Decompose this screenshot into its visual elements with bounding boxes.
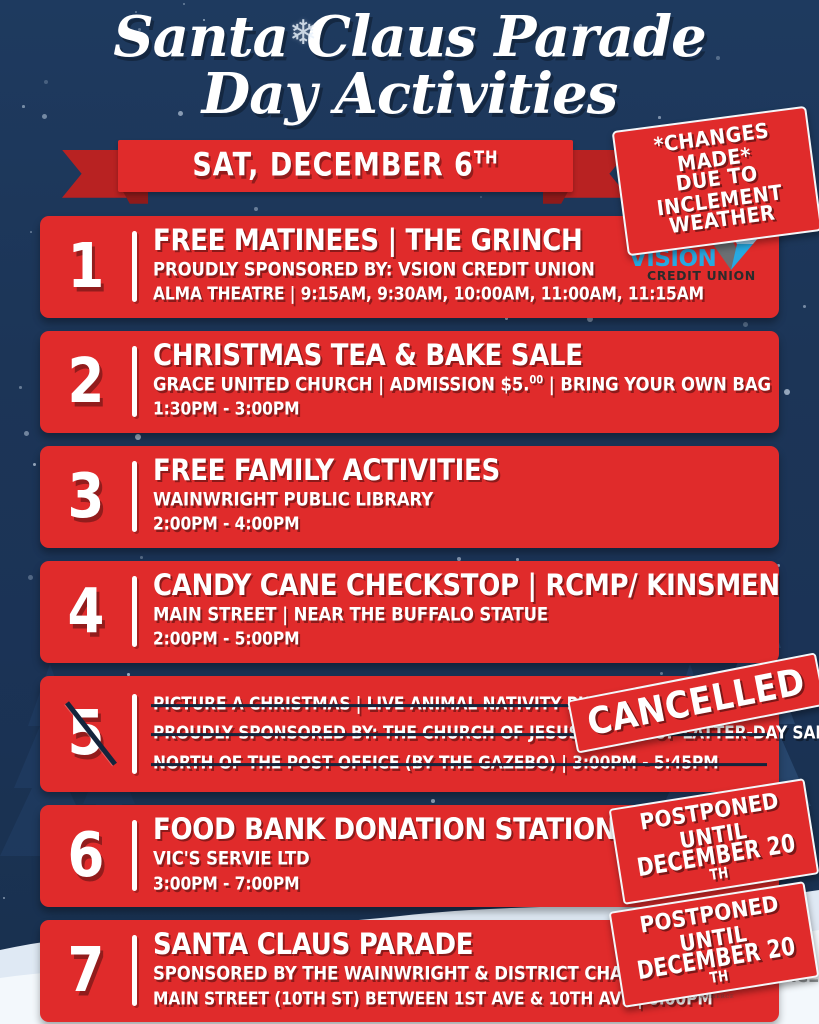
activity-number: 5 [68, 703, 105, 764]
activity-subtitle: GRACE UNITED CHURCH | ADMISSION $5.00 | … [153, 373, 765, 397]
activity-number: 3 [68, 466, 105, 527]
vision-logo-sub: CREDIT UNION [647, 268, 756, 283]
activity-number: 6 [68, 825, 105, 886]
card-divider [132, 935, 137, 1006]
activity-title: CANDY CANE CHECKSTOP | RCMP/ KINSMEN [153, 570, 765, 603]
activity-number-column: 2 [40, 342, 132, 421]
activity-subtitle-a: GRACE UNITED CHURCH | ADMISSION $5. [153, 374, 529, 395]
activity-details: NORTH OF THE POST OFFICE (BY THE GAZEBO)… [153, 747, 765, 780]
ribbon-fold-right [543, 190, 569, 204]
card-divider [132, 461, 137, 532]
card-divider [132, 820, 137, 891]
activity-number-column: 7 [40, 931, 132, 1010]
activity-subtitle: MAIN STREET | NEAR THE BUFFALO STATUE [153, 603, 765, 627]
ribbon-date: SAT, DECEMBER 6 [192, 147, 473, 184]
ribbon-date-suffix: TH [474, 147, 499, 168]
ribbon-body: SAT, DECEMBER 6TH [118, 140, 573, 192]
ribbon-fold-left [122, 190, 148, 204]
page-title: Santa Claus Parade Day Activities [0, 10, 819, 122]
activity-number-column: 6 [40, 816, 132, 895]
poster-header: ❄ Santa Claus Parade Day Activities [0, 0, 819, 122]
activity-details: 2:00PM - 5:00PM [153, 627, 765, 652]
activity-number-column: 1 [40, 227, 132, 306]
activity-number: 1 [68, 236, 105, 297]
activity-details: 2:00PM - 4:00PM [153, 512, 765, 537]
activity-body: CANDY CANE CHECKSTOP | RCMP/ KINSMEN MAI… [153, 572, 765, 651]
activity-body: FREE FAMILY ACTIVITIES WAINWRIGHT PUBLIC… [153, 457, 765, 536]
activity-number-column: 3 [40, 457, 132, 536]
activity-subtitle-b: | BRING YOUR OWN BAG [543, 374, 771, 395]
poster-canvas: ❄ Santa Claus Parade Day Activities SAT,… [0, 0, 819, 1024]
activity-details: 1:30PM - 3:00PM [153, 397, 765, 422]
title-line-2: Day Activities [0, 67, 819, 122]
changes-notice-badge: *CHANGES MADE* DUE TO INCLEMENT WEATHER [612, 106, 819, 256]
activity-subtitle: WAINWRIGHT PUBLIC LIBRARY [153, 488, 765, 512]
activity-card-4[interactable]: 4 CANDY CANE CHECKSTOP | RCMP/ KINSMEN M… [40, 561, 779, 663]
card-divider [132, 576, 137, 647]
activity-number: 4 [68, 581, 105, 642]
activity-number: 7 [68, 940, 105, 1001]
activity-card-2[interactable]: 2 CHRISTMAS TEA & BAKE SALE GRACE UNITED… [40, 331, 779, 433]
activity-number-column: 5 [40, 690, 132, 778]
activity-card-3[interactable]: 3 FREE FAMILY ACTIVITIES WAINWRIGHT PUBL… [40, 446, 779, 548]
activity-body: CHRISTMAS TEA & BAKE SALE GRACE UNITED C… [153, 342, 765, 421]
activity-title: FREE FAMILY ACTIVITIES [153, 455, 765, 488]
card-divider [132, 694, 137, 774]
activity-number: 2 [68, 351, 105, 412]
activity-number-column: 4 [40, 572, 132, 651]
activity-price-cents: 00 [529, 374, 543, 386]
card-divider [132, 346, 137, 417]
title-line-1: Santa Claus Parade [0, 10, 819, 65]
card-divider [132, 231, 137, 302]
ribbon-text: SAT, DECEMBER 6TH [192, 147, 498, 184]
activity-title: CHRISTMAS TEA & BAKE SALE [153, 340, 765, 373]
